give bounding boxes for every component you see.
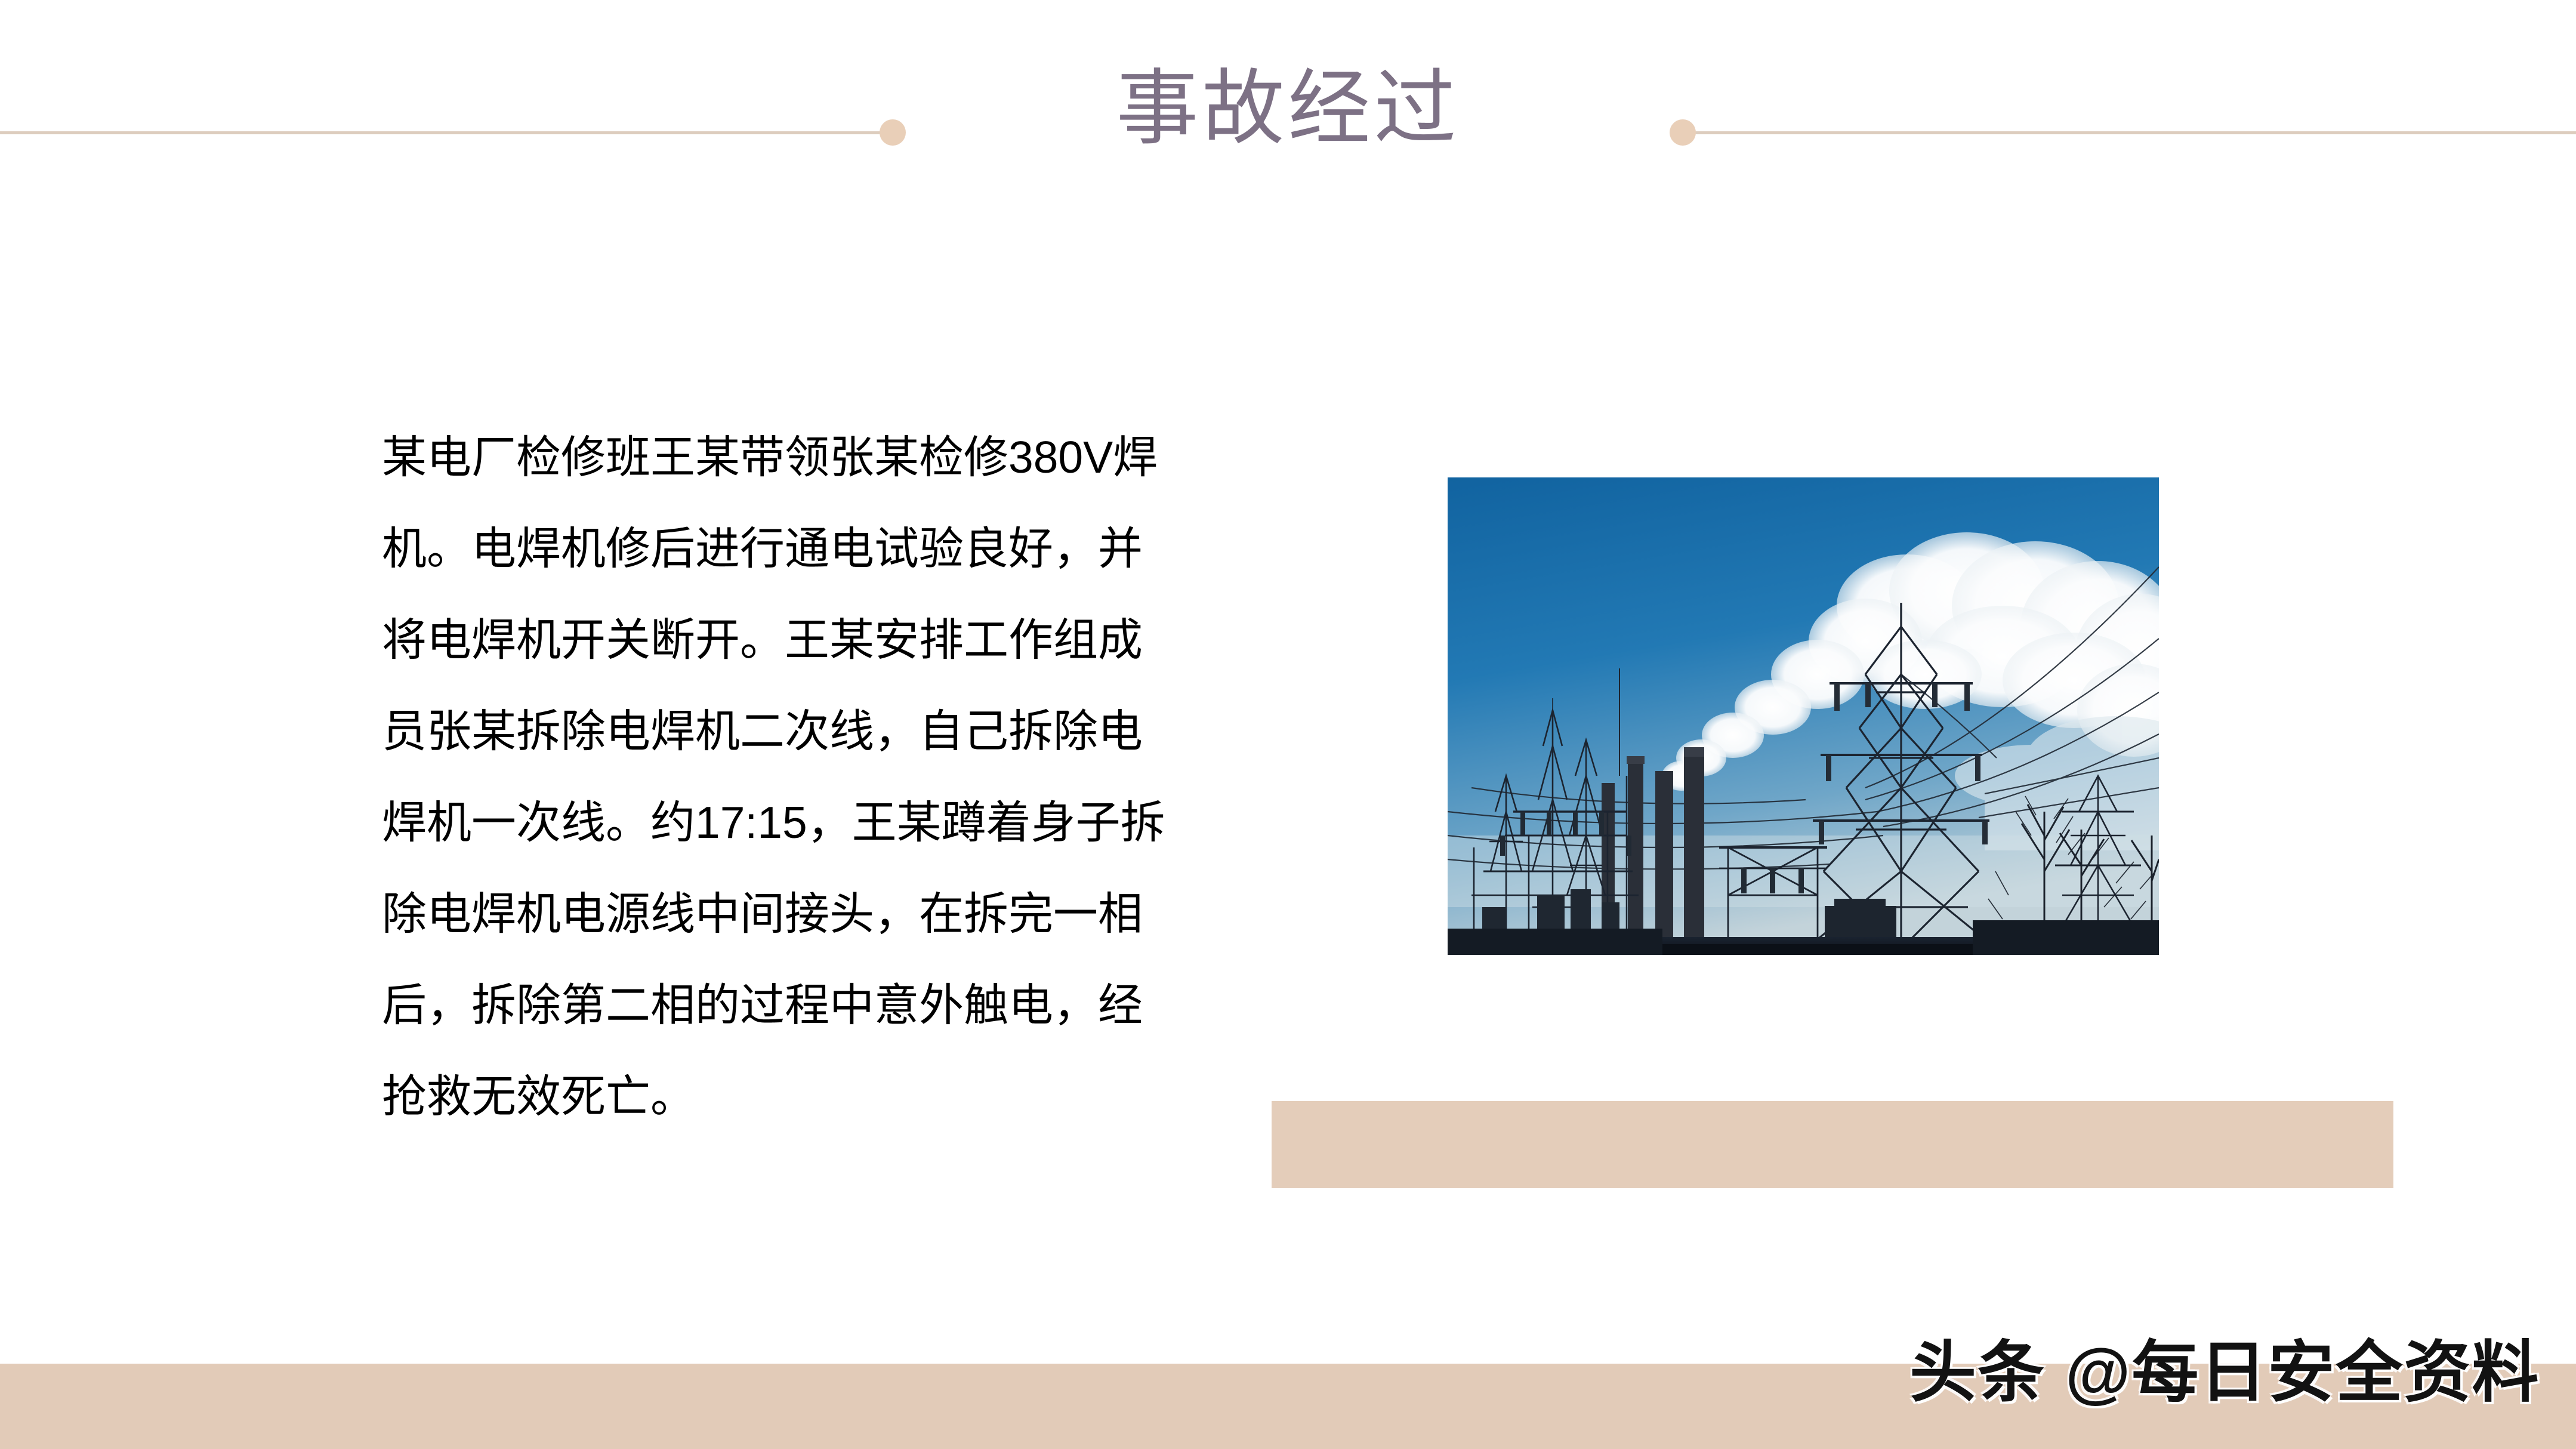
substation-photo-illustration: [1448, 477, 2159, 955]
page-title: 事故经过: [0, 66, 2576, 152]
substation-photo: [1448, 477, 2159, 955]
accident-description-paragraph: 某电厂检修班王某带领张某检修380V焊机。电焊机修后进行通电试验良好，并将电焊机…: [382, 412, 1176, 1142]
decorative-accent-bar: [1272, 1101, 2393, 1188]
watermark-text: 头条 @每日安全资料: [1909, 1336, 2540, 1409]
